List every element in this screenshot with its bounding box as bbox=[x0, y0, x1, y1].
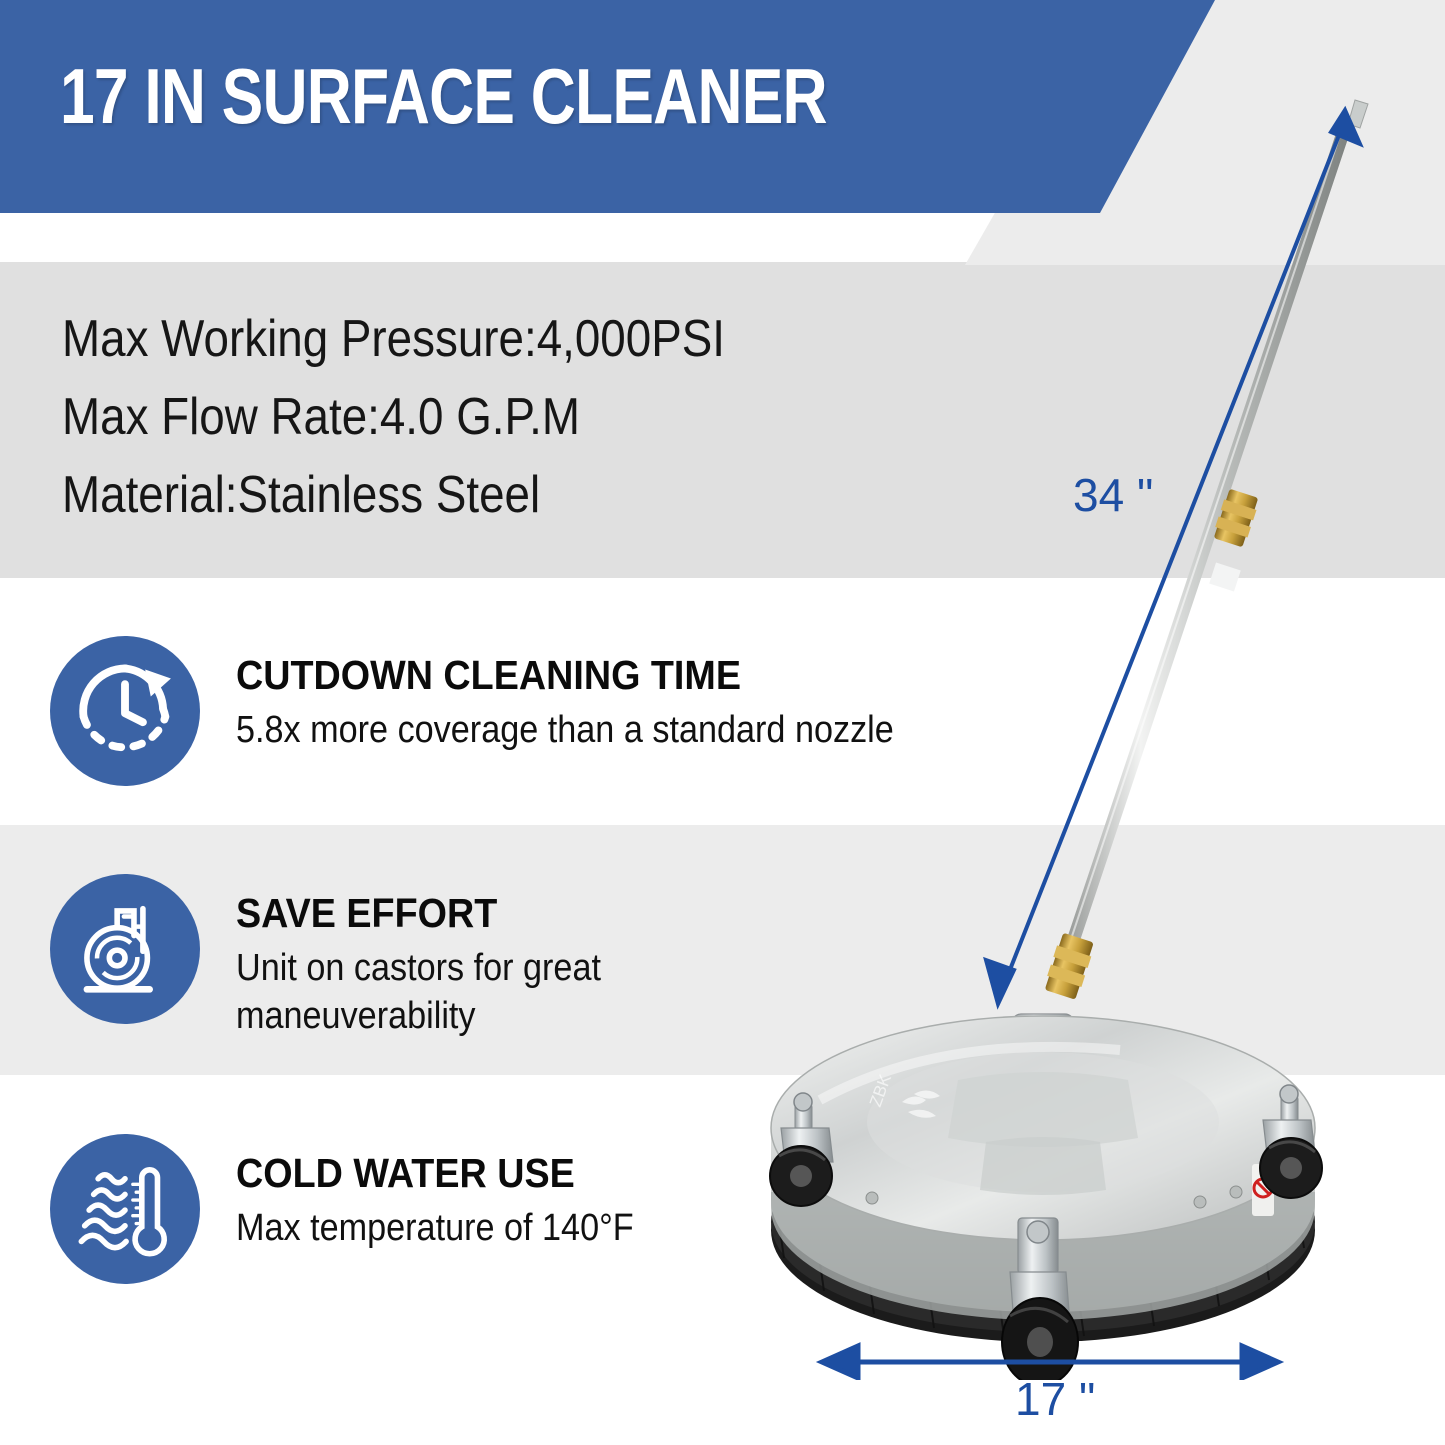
product-illustration: ZBK bbox=[700, 80, 1445, 1380]
infographic-page: 17 IN SURFACE CLEANER Max Working Pressu… bbox=[0, 0, 1445, 1445]
feature-3-description: Max temperature of 140°F bbox=[236, 1204, 634, 1252]
clock-arrow-icon bbox=[50, 636, 200, 786]
feature-2-title: SAVE EFFORT bbox=[236, 888, 609, 938]
feature-save-effort: SAVE EFFORT Unit on castors for great ma… bbox=[50, 874, 642, 1040]
feature-cold-water-use: COLD WATER USE Max temperature of 140°F bbox=[50, 1134, 678, 1284]
feature-3-title: COLD WATER USE bbox=[236, 1148, 642, 1198]
feature-3-text: COLD WATER USE Max temperature of 140°F bbox=[236, 1134, 678, 1252]
spray-wand bbox=[1043, 100, 1368, 1000]
surface-cleaner-head: ZBK bbox=[770, 1014, 1322, 1380]
dimension-label-wand-length: 34 " bbox=[1073, 468, 1153, 522]
feature-2-description: Unit on castors for great maneuverabilit… bbox=[236, 944, 601, 1040]
feature-2-text: SAVE EFFORT Unit on castors for great ma… bbox=[236, 874, 642, 1040]
caster-wheel-icon bbox=[50, 874, 200, 1024]
dimension-label-head-diameter: 17 " bbox=[1015, 1372, 1095, 1426]
water-thermometer-icon bbox=[50, 1134, 200, 1284]
